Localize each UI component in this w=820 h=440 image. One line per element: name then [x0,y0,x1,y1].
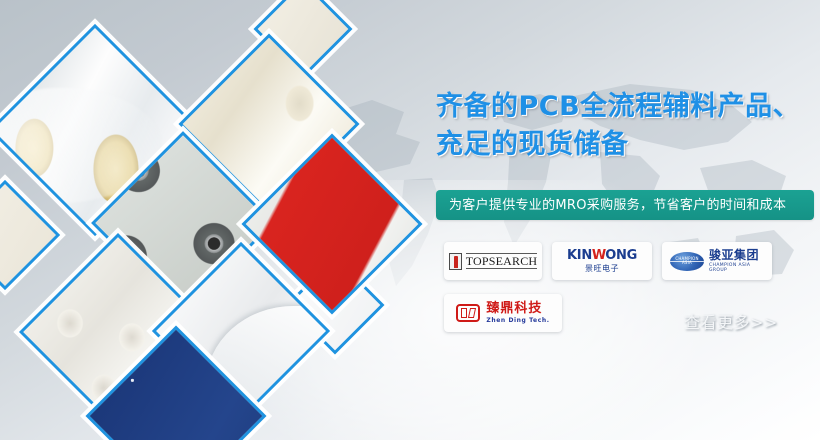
zhending-english-name: Zhen Ding Tech. [486,318,549,324]
globe-icon: CHAMPION ASIA [670,252,704,271]
zhending-chinese-name: 臻鼎科技 [486,302,549,315]
zhending-mark-icon [456,304,480,322]
headline-line-2: 充足的现货储备 [436,126,820,164]
champion-english-name: CHAMPION ASIA GROUP [709,264,764,273]
client-logo-topsearch[interactable]: TOPSEARCH [444,242,542,280]
globe-label: CHAMPION ASIA [670,257,704,265]
client-logos-row-2: 臻鼎科技 Zhen Ding Tech. [444,294,562,332]
product-tile-collage: JIE [0,0,440,440]
banner-copy-block: 齐备的PCB全流程辅料产品、 充足的现货储备 为客户提供专业的MRO采购服务，节… [430,0,820,440]
kinwong-text-left: KIN [567,248,592,263]
subtitle-text: 为客户提供专业的MRO采购服务，节省客户的时间和成本 [436,199,786,212]
kinwong-text-right: ONG [605,248,637,263]
champion-chinese-name: 骏亚集团 [709,249,764,261]
subtitle-bar: 为客户提供专业的MRO采购服务，节省客户的时间和成本 [436,190,814,220]
promo-banner: JIE 齐备的PCB全流程辅料产品、 充足的现货储备 为客户提供专业的MRO采购… [0,0,820,440]
view-more-link[interactable]: 查看更多>> [684,315,778,331]
client-logo-kinwong[interactable]: KINWONG 景旺电子 [552,242,652,280]
product-tile-fragment-left [0,180,60,290]
headline: 齐备的PCB全流程辅料产品、 充足的现货储备 [436,88,820,165]
topsearch-wordmark: TOPSEARCH [466,253,538,269]
client-logo-zhen-ding[interactable]: 臻鼎科技 Zhen Ding Tech. [444,294,562,332]
kinwong-wordmark: KINWONG [567,249,637,262]
headline-line-1: 齐备的PCB全流程辅料产品、 [436,88,820,126]
topsearch-mark-icon [449,253,462,270]
client-logos-row-1: TOPSEARCH KINWONG 景旺电子 CHAMPION ASIA 骏亚集… [444,242,772,280]
kinwong-chinese-name: 景旺电子 [567,265,637,273]
client-logo-champion-asia[interactable]: CHAMPION ASIA 骏亚集团 CHAMPION ASIA GROUP [662,242,772,280]
kinwong-text-accent: W [592,248,605,263]
